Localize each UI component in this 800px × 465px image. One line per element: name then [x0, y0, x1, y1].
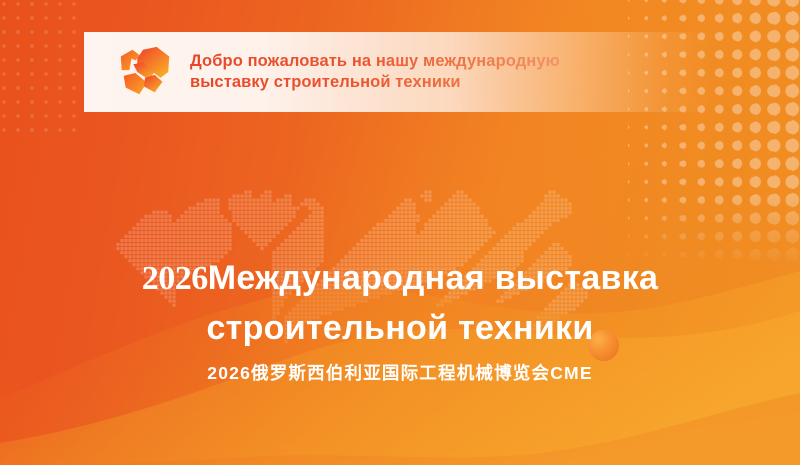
headline-line-1: 2026Международная выставка: [0, 258, 800, 300]
headline-year: 2026: [142, 260, 208, 297]
headline-line-1-text: Международная выставка: [208, 259, 658, 297]
headline-block: 2026Международная выставка строительной …: [0, 258, 800, 385]
handshake-icon: [114, 41, 176, 103]
poster-canvas: Добро пожаловать на нашу международную в…: [0, 0, 800, 465]
welcome-banner: Добро пожаловать на нашу международную в…: [84, 32, 716, 112]
welcome-text: Добро пожаловать на нашу международную в…: [190, 51, 560, 94]
top-left-dot-grid: [0, 0, 84, 134]
subtitle-chinese: 2026俄罗斯西伯利亚国际工程机械博览会CME: [0, 360, 800, 385]
headline-line-2: строительной техники: [0, 308, 800, 349]
